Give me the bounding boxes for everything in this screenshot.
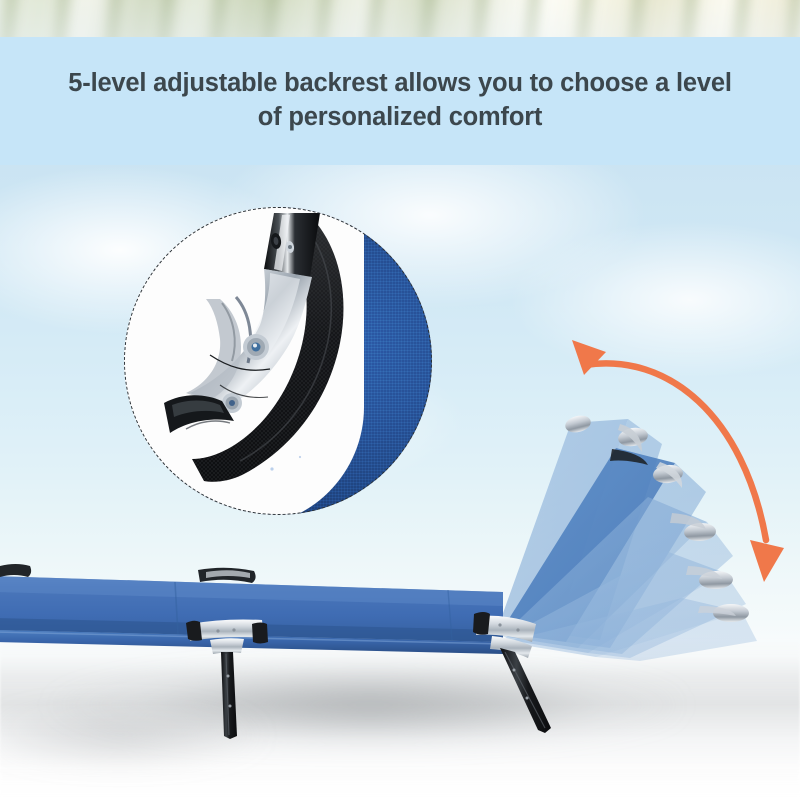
- arrow-head-up: [572, 340, 606, 375]
- recline-range-double-arrow: [0, 0, 800, 800]
- product-feature-image: 5-level adjustable backrest allows you t…: [0, 0, 800, 800]
- arrow-head-down: [750, 540, 784, 582]
